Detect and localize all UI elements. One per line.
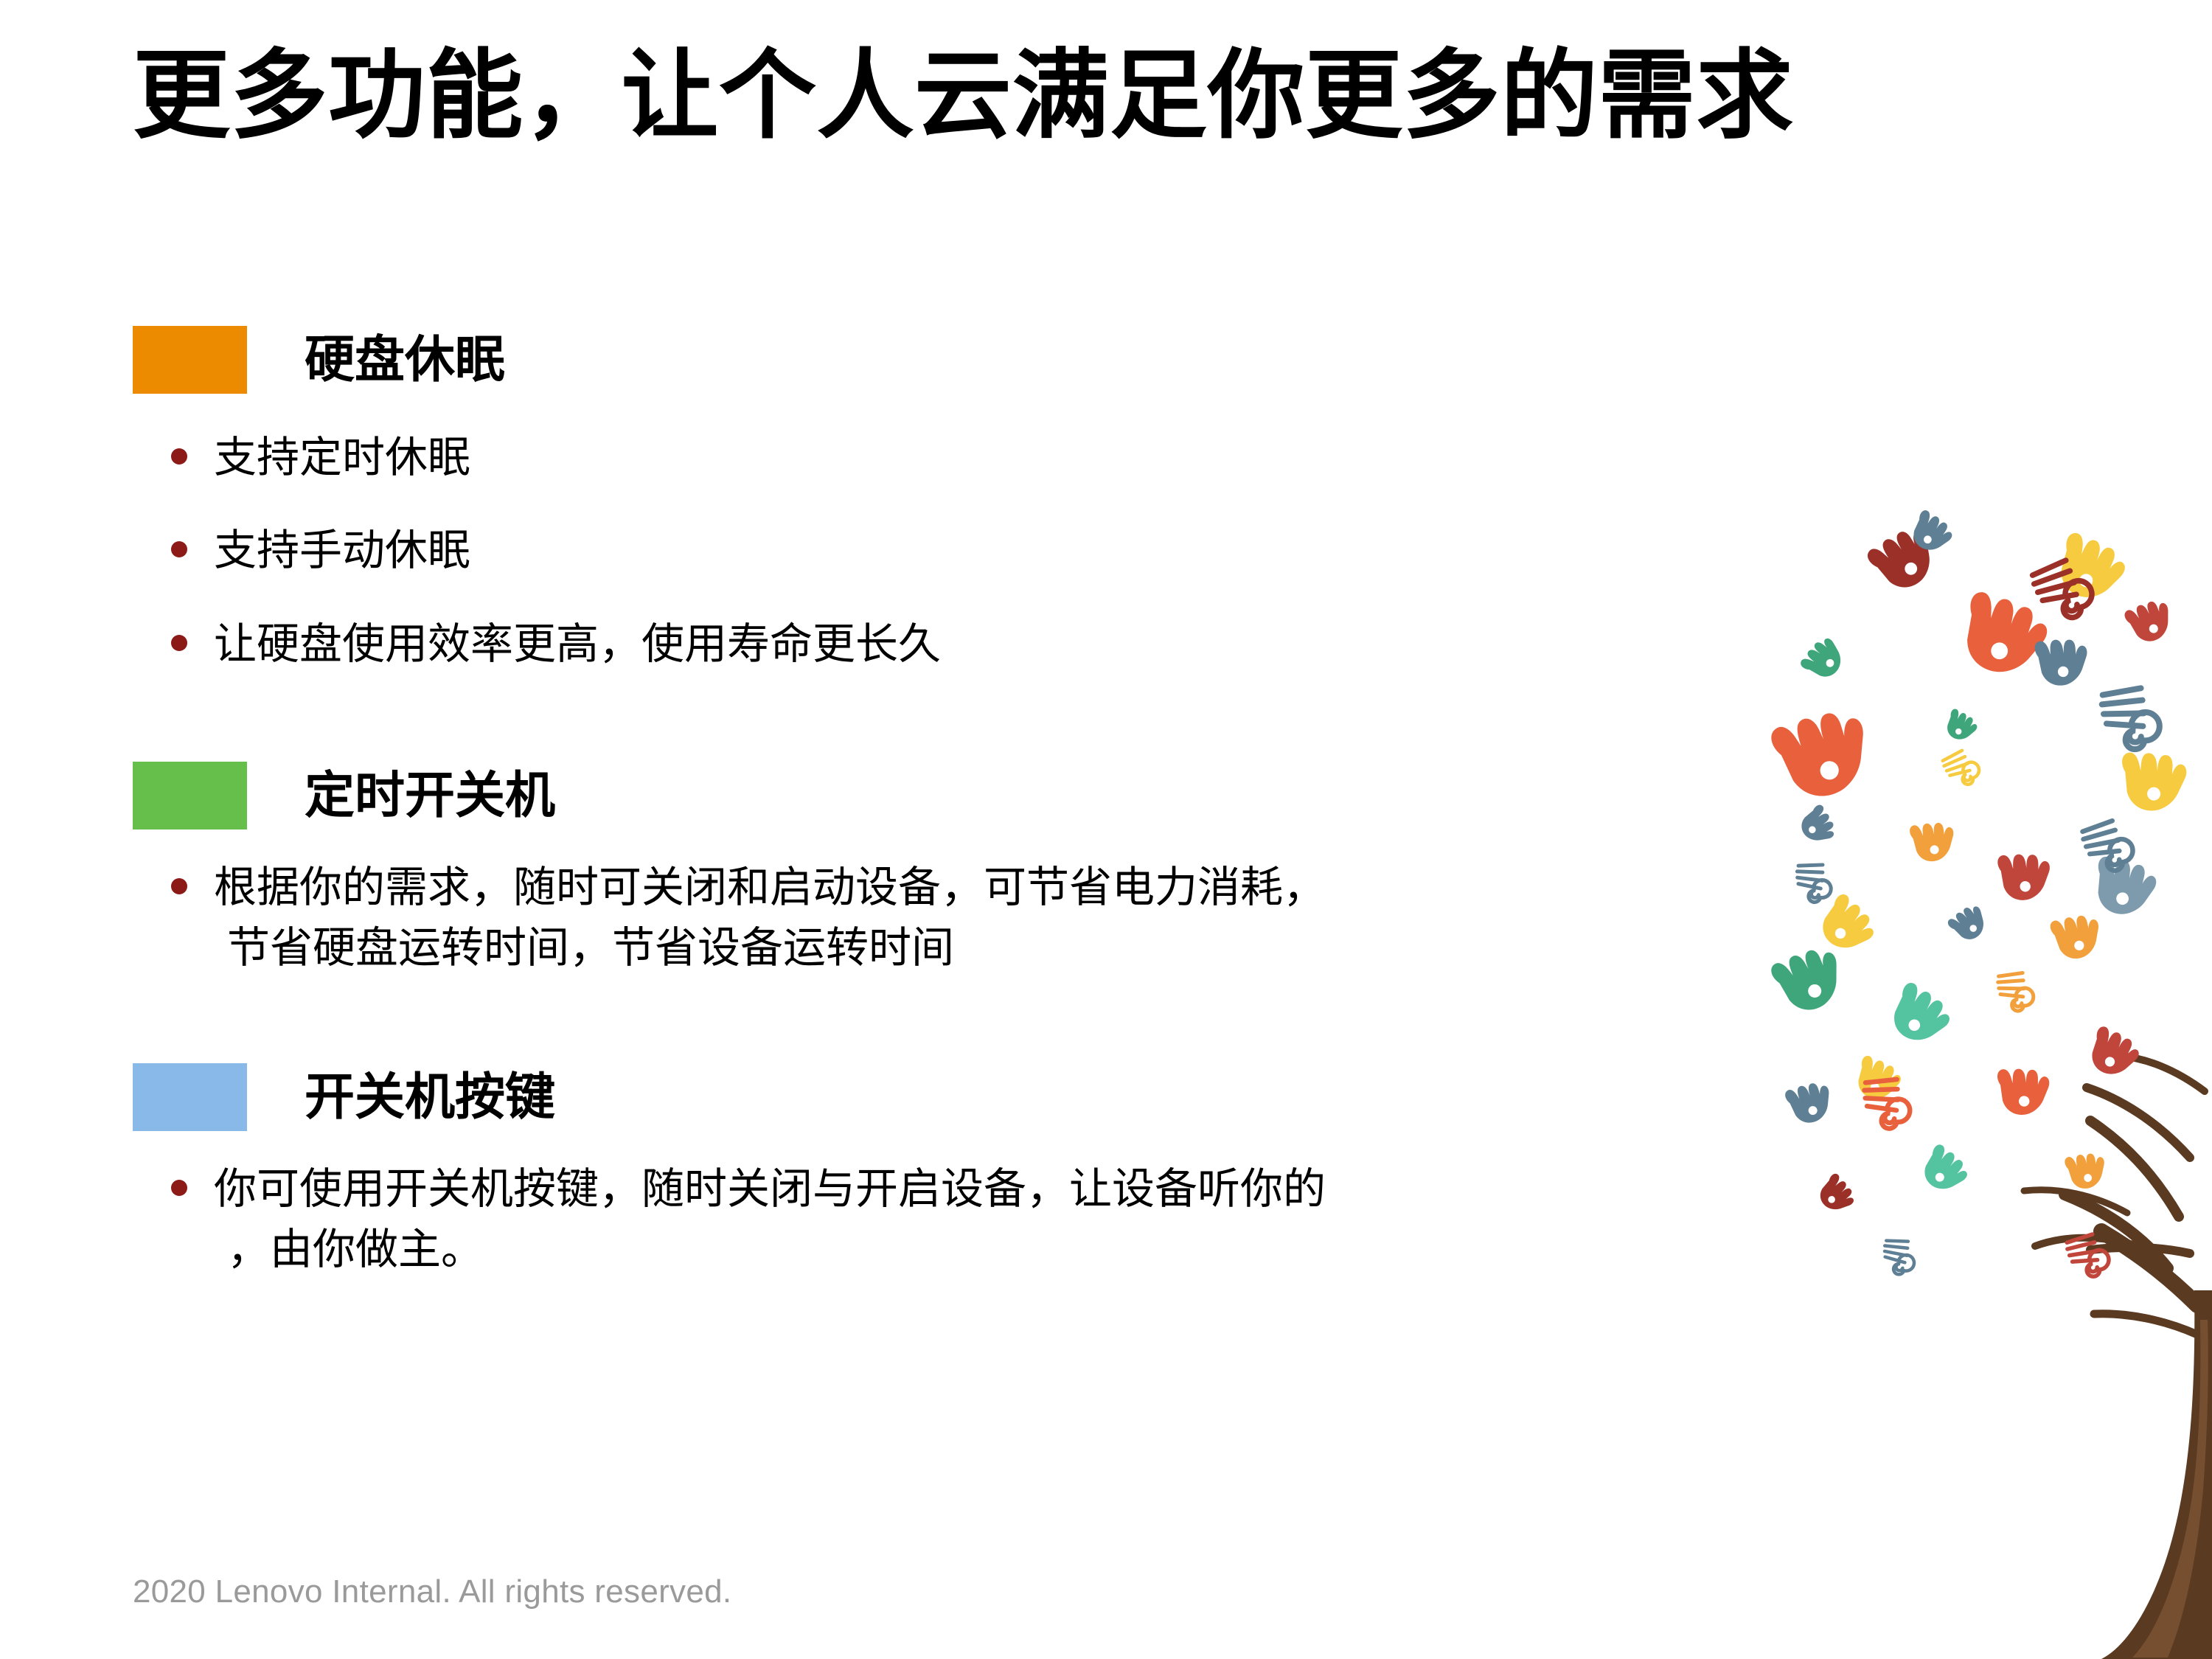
feature-block-hard-disk-sleep: 硬盘休眠 支持定时休眠 支持手动休眠 让硬盘使用效率更高，使用寿命更长久 <box>133 324 1740 675</box>
feature-header: 开关机按键 <box>133 1062 1740 1133</box>
bullet-text: 支持定时休眠 <box>214 428 1740 488</box>
list-item: 你可使用开关机按键，随时关闭与开启设备，让设备听你的 ，由你做主。 <box>133 1159 1740 1281</box>
copyright-footer: 2020 Lenovo Internal. All rights reserve… <box>133 1573 731 1610</box>
bullet-dot-icon <box>171 448 187 465</box>
feature-bullets: 你可使用开关机按键，随时关闭与开启设备，让设备听你的 ，由你做主。 <box>133 1159 1740 1281</box>
feature-color-swatch-green <box>133 762 247 829</box>
list-item: 支持手动休眠 <box>133 521 1740 581</box>
bullet-dot-icon <box>171 1180 187 1196</box>
bullet-dot-icon <box>171 541 187 557</box>
bullet-text: 你可使用开关机按键，随时关闭与开启设备，让设备听你的 <box>214 1159 1740 1220</box>
feature-title: 硬盘休眠 <box>305 335 505 385</box>
page-title: 更多功能，让个人云满足你更多的需求 <box>133 25 2079 166</box>
feature-color-swatch-blue <box>133 1063 247 1131</box>
feature-bullets: 根据你的需求，随时可关闭和启动设备，可节省电力消耗， 节省硬盘运转时间，节省设备… <box>133 858 1740 979</box>
bullet-text: 支持手动休眠 <box>214 521 1740 581</box>
bullet-text-line2: 节省硬盘运转时间，节省设备运转时间 <box>214 918 1740 978</box>
bullet-text-line2: ，由你做主。 <box>214 1220 1740 1280</box>
feature-title: 定时开关机 <box>305 771 555 821</box>
feature-header: 定时开关机 <box>133 760 1740 831</box>
feature-list: 硬盘休眠 支持定时休眠 支持手动休眠 让硬盘使用效率更高，使用寿命更长久 <box>133 324 1740 1281</box>
feature-title: 开关机按键 <box>305 1072 555 1122</box>
list-item: 根据你的需求，随时可关闭和启动设备，可节省电力消耗， 节省硬盘运转时间，节省设备… <box>133 858 1740 979</box>
bullet-dot-icon <box>171 635 187 651</box>
feature-color-swatch-orange <box>133 326 247 394</box>
feature-block-scheduled-power: 定时开关机 根据你的需求，随时可关闭和启动设备，可节省电力消耗， 节省硬盘运转时… <box>133 760 1740 979</box>
hand-print-tree-illustration <box>1755 509 2212 1659</box>
list-item: 支持定时休眠 <box>133 428 1740 488</box>
list-item: 让硬盘使用效率更高，使用寿命更长久 <box>133 614 1740 675</box>
bullet-text: 根据你的需求，随时可关闭和启动设备，可节省电力消耗， <box>214 858 1740 918</box>
feature-block-power-button: 开关机按键 你可使用开关机按键，随时关闭与开启设备，让设备听你的 ，由你做主。 <box>133 1062 1740 1281</box>
feature-bullets: 支持定时休眠 支持手动休眠 让硬盘使用效率更高，使用寿命更长久 <box>133 428 1740 675</box>
bullet-text: 让硬盘使用效率更高，使用寿命更长久 <box>214 614 1740 675</box>
bullet-dot-icon <box>171 878 187 894</box>
slide-canvas: 更多功能，让个人云满足你更多的需求 <box>0 0 2212 1659</box>
feature-header: 硬盘休眠 <box>133 324 1740 395</box>
